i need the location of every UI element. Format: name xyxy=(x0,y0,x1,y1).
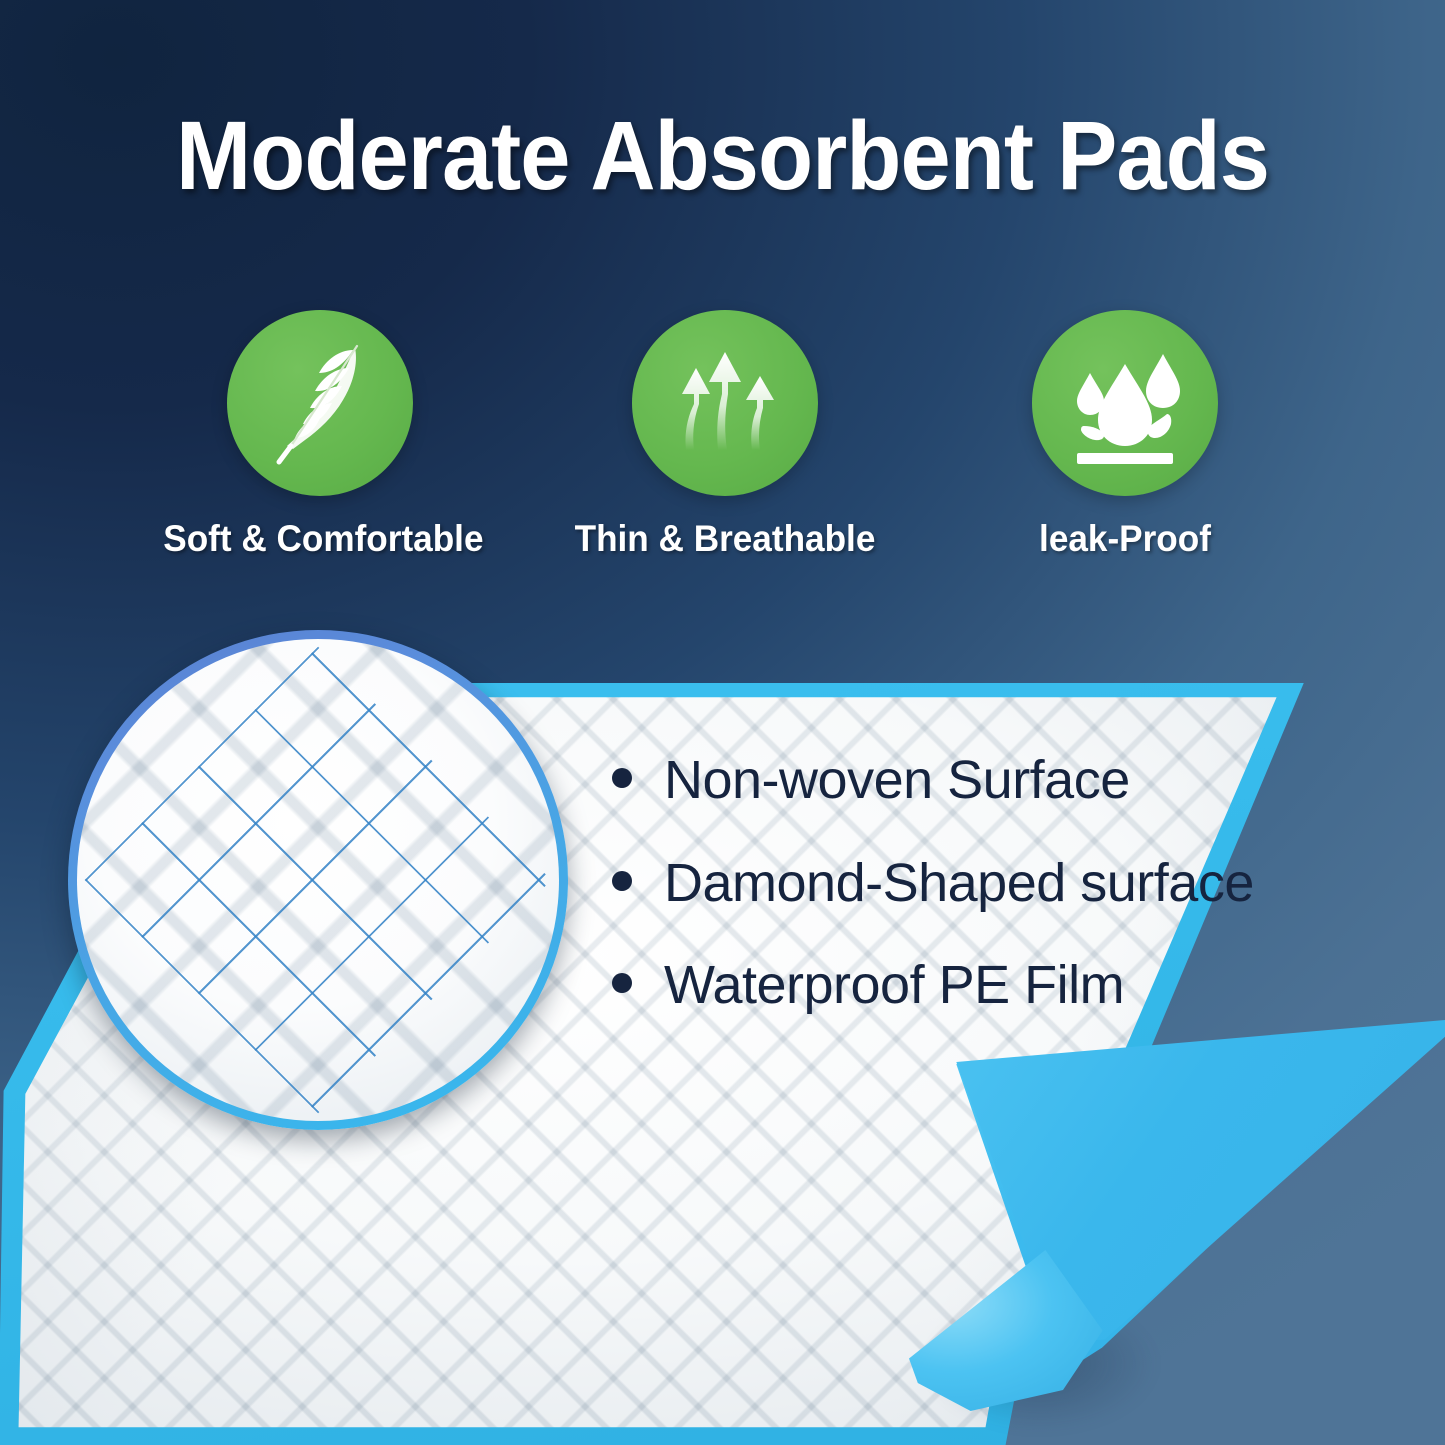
bullet-label: Non-woven Surface xyxy=(664,752,1130,809)
feature-bullet-list: Non-woven Surface Damond-Shaped surface … xyxy=(612,752,1372,1060)
feature-leak-proof: leak-Proof xyxy=(960,310,1290,560)
bullet-label: Waterproof PE Film xyxy=(664,957,1124,1014)
page-title: Moderate Absorbent Pads xyxy=(51,100,1395,212)
feature-label: leak-Proof xyxy=(968,518,1282,560)
feature-icon-circle xyxy=(632,310,818,496)
feature-icon-circle xyxy=(1032,310,1218,496)
list-item: Damond-Shaped surface xyxy=(612,855,1372,912)
bullet-dot-icon xyxy=(612,973,632,993)
feature-badge-row: Soft & Comfortable xyxy=(0,310,1445,580)
diamond-grid-overlay xyxy=(85,647,552,1114)
list-item: Non-woven Surface xyxy=(612,752,1372,809)
bullet-label: Damond-Shaped surface xyxy=(664,855,1254,912)
up-arrows-icon xyxy=(632,310,818,496)
feature-label: Soft & Comfortable xyxy=(163,518,477,560)
feature-icon-circle xyxy=(227,310,413,496)
list-item: Waterproof PE Film xyxy=(612,957,1372,1014)
water-droplets-icon xyxy=(1032,310,1218,496)
product-infographic: Moderate Absorbent Pads xyxy=(0,0,1445,1445)
bullet-dot-icon xyxy=(612,768,632,788)
magnifier-content xyxy=(77,639,559,1121)
feather-icon xyxy=(227,310,413,496)
feature-thin-breathable: Thin & Breathable xyxy=(560,310,890,560)
magnifier-detail-circle xyxy=(68,630,568,1130)
bullet-dot-icon xyxy=(612,871,632,891)
feature-label: Thin & Breathable xyxy=(568,518,882,560)
pad-peeled-corner xyxy=(905,1020,1445,1440)
feature-soft-comfortable: Soft & Comfortable xyxy=(155,310,485,560)
